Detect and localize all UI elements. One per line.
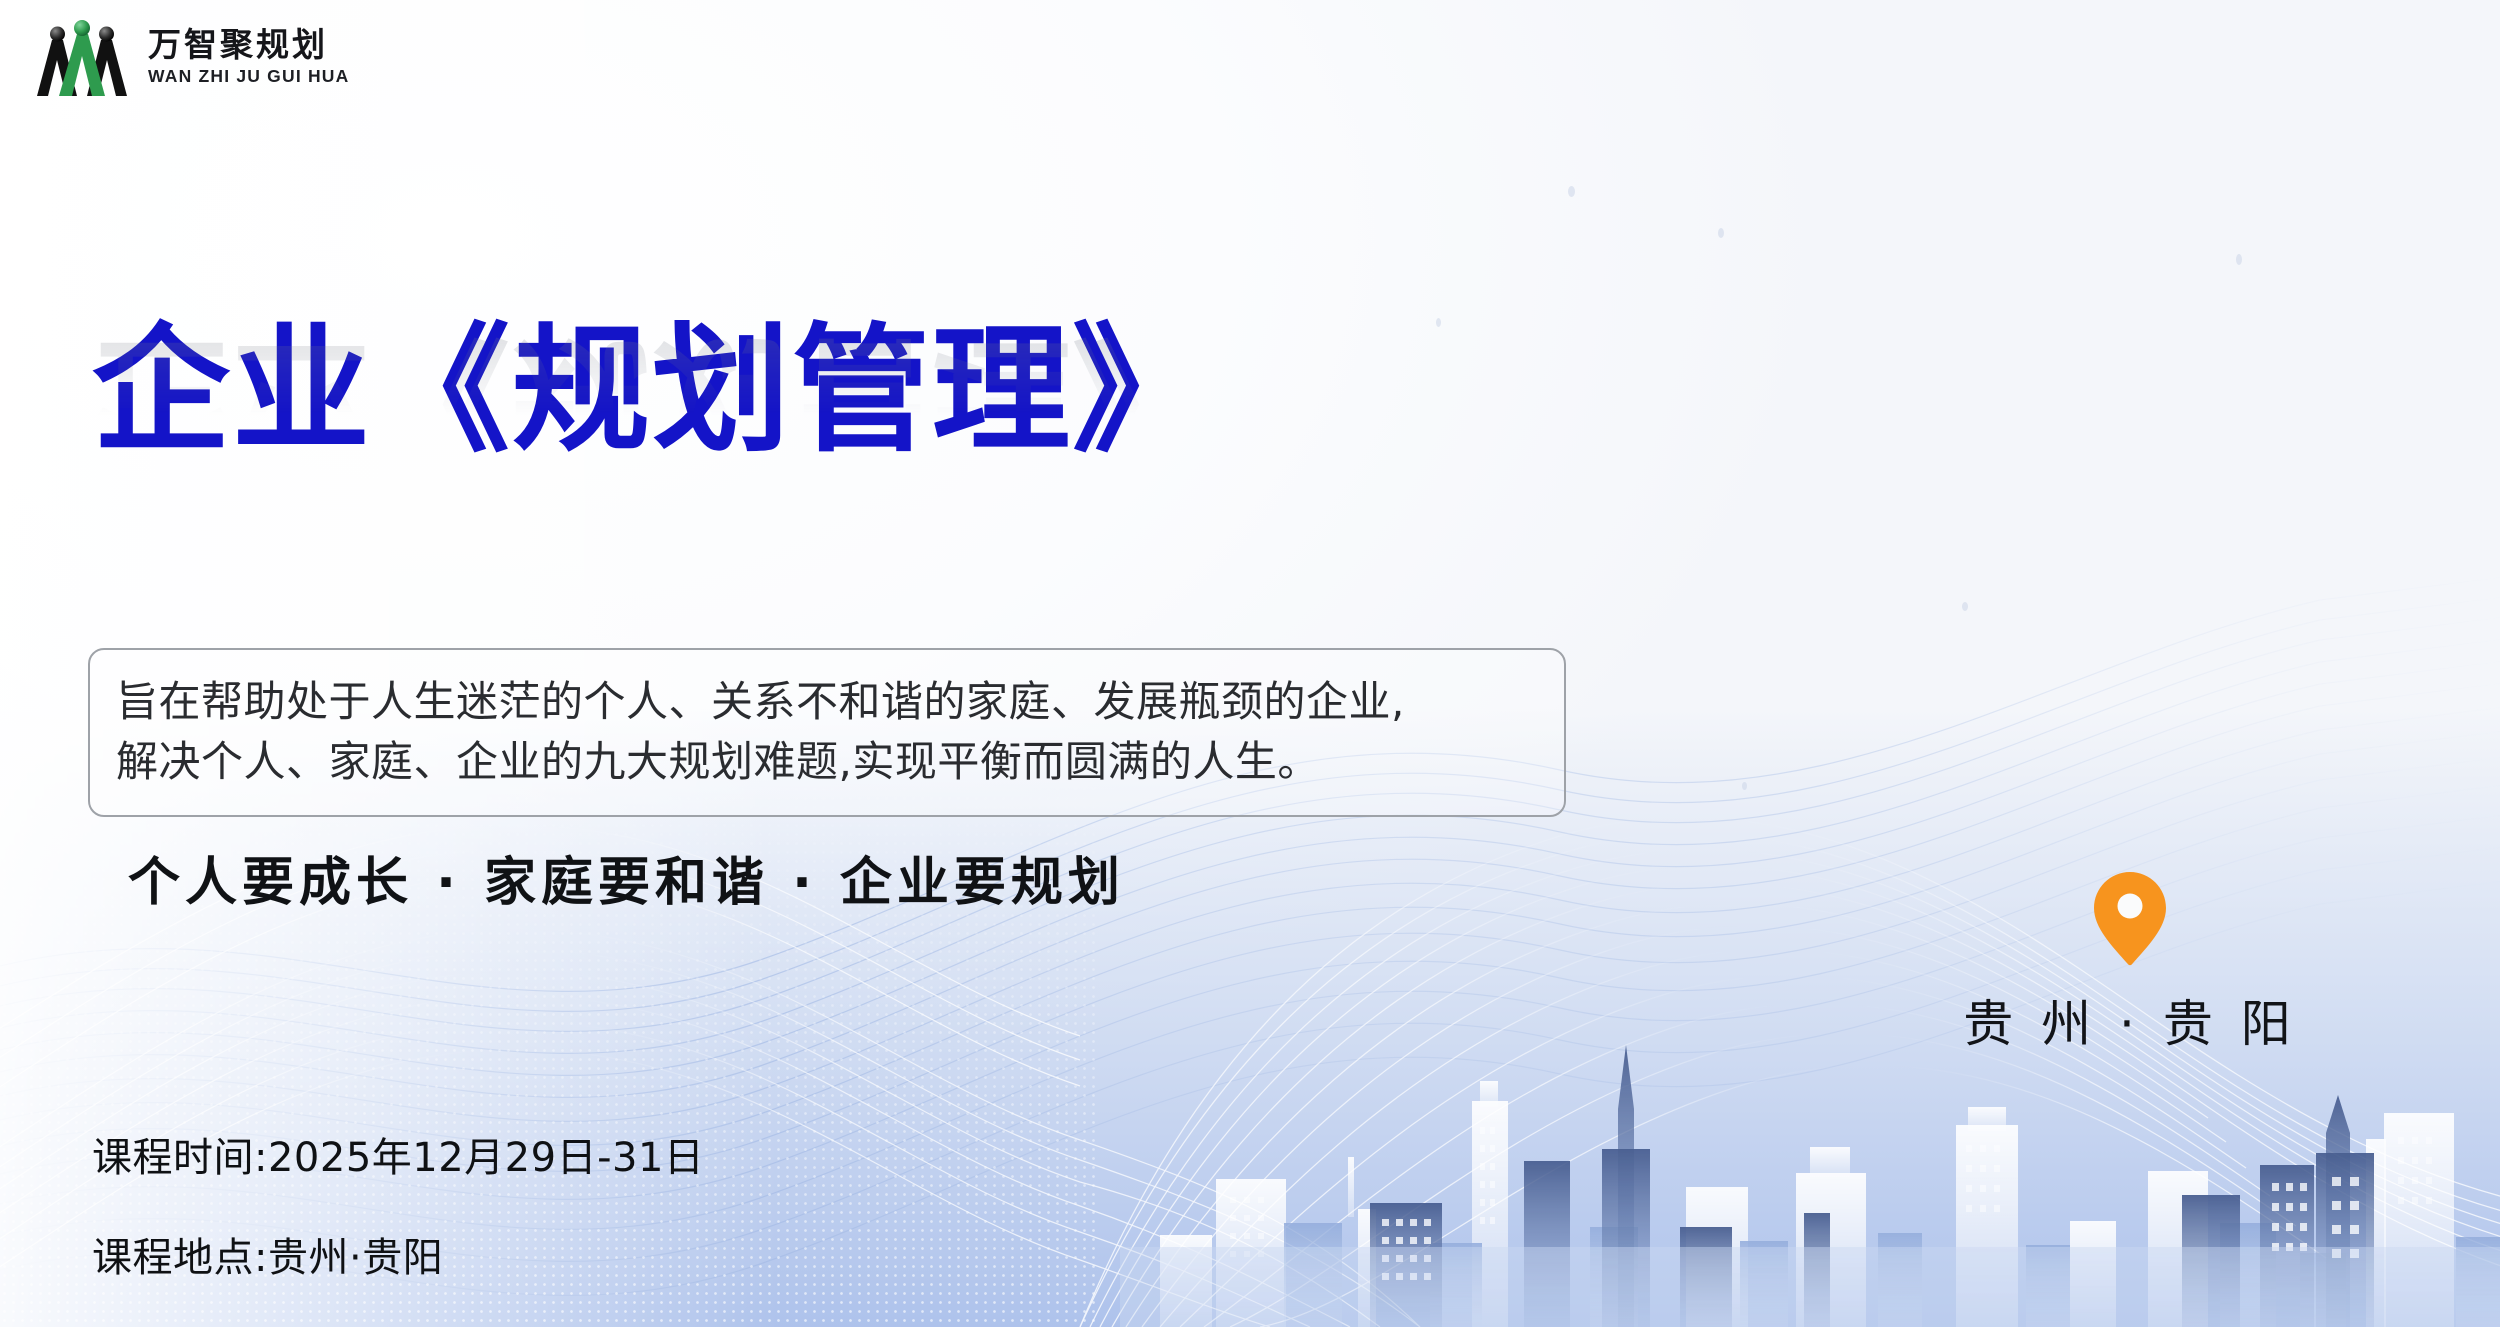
brand-logo[interactable]: 万智聚规划 WAN ZHI JU GUI HUA <box>30 18 349 96</box>
brand-name-cn: 万智聚规划 <box>148 28 349 61</box>
map-pin-icon <box>2094 872 2166 966</box>
location-city-label: 贵 州 · 贵 阳 <box>1960 984 2300 1056</box>
background-speck <box>1962 602 1968 611</box>
course-location: 课程地点:贵州·贵阳 <box>92 1225 704 1283</box>
brand-logo-text: 万智聚规划 WAN ZHI JU GUI HUA <box>148 28 349 86</box>
hero-title-block: 企业《规划管理》 企业《规划管理》 <box>92 322 1652 460</box>
page-title: 企业《规划管理》 <box>92 322 1652 460</box>
slogan-text: 个人要成长 · 家庭要和谐 · 企业要规划 <box>128 840 1125 915</box>
background-speck <box>2236 254 2242 265</box>
description-box: 旨在帮助处于人生迷茫的个人、关系不和谐的家庭、发展瓶颈的企业, 解决个人、家庭、… <box>88 648 1566 817</box>
poster-canvas: 万智聚规划 WAN ZHI JU GUI HUA 企业《规划管理》 企业《规划管… <box>0 0 2500 1327</box>
course-info-block: 课程时间:2025年12月29日-31日 课程地点:贵州·贵阳 <box>92 1125 704 1283</box>
three-people-logo-icon <box>30 18 134 96</box>
background-speck <box>1568 186 1575 197</box>
brand-name-pinyin: WAN ZHI JU GUI HUA <box>148 68 349 86</box>
background-speck <box>1718 228 1724 238</box>
background-speck <box>1742 782 1747 790</box>
description-line-1: 旨在帮助处于人生迷茫的个人、关系不和谐的家庭、发展瓶颈的企业, <box>116 672 1538 732</box>
course-time: 课程时间:2025年12月29日-31日 <box>92 1125 704 1183</box>
description-line-2: 解决个人、家庭、企业的九大规划难题,实现平衡而圆满的人生。 <box>116 732 1538 792</box>
location-block: 贵 州 · 贵 阳 <box>1960 872 2300 1056</box>
